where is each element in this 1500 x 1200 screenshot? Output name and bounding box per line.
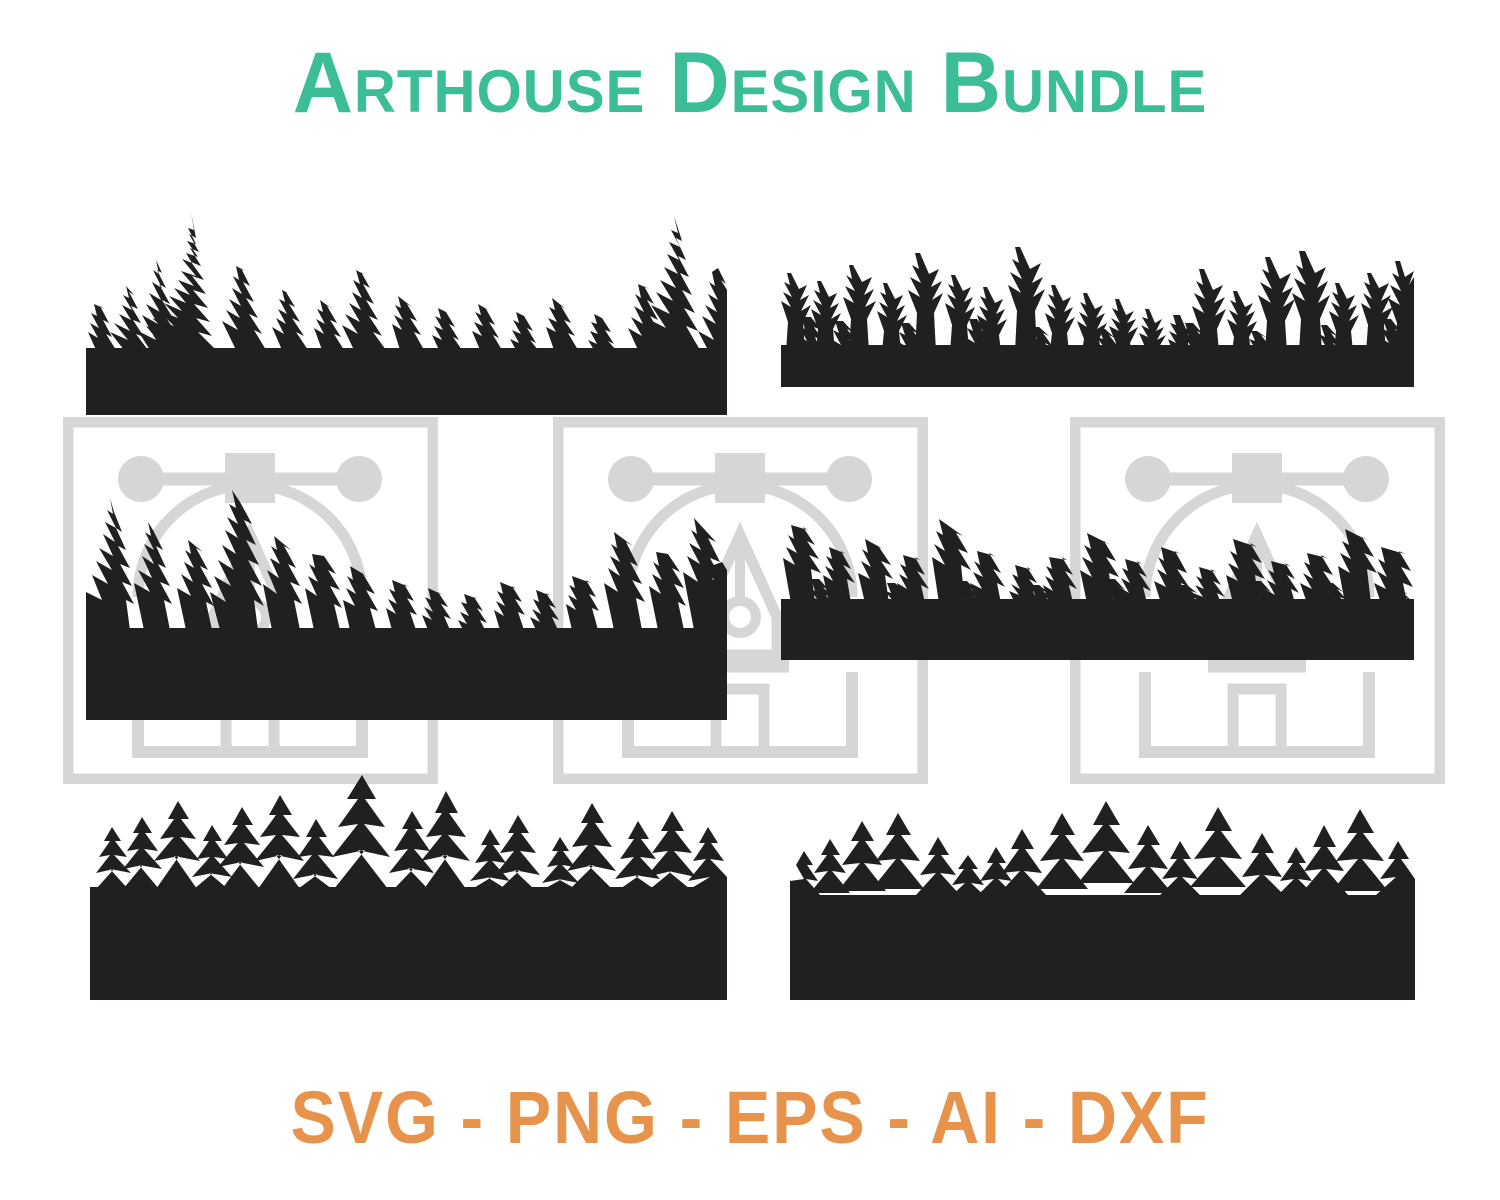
design-tile-3: [86, 470, 727, 720]
forest-silhouette-3: [86, 470, 727, 720]
forest-silhouette-5: [90, 765, 727, 1000]
design-bundle-preview: Arthouse Design Bundle: [0, 0, 1500, 1200]
forest-silhouette-1: [86, 200, 727, 415]
forest-silhouette-4: [781, 495, 1414, 660]
design-tile-6: [790, 785, 1415, 1000]
design-tile-2: [781, 227, 1414, 387]
design-tile-4: [781, 495, 1414, 660]
design-tile-5: [90, 765, 727, 1000]
forest-silhouette-2: [781, 227, 1414, 387]
design-tile-1: [86, 200, 727, 415]
file-formats-label: SVG - PNG - EPS - AI - DXF: [60, 1078, 1440, 1158]
forest-silhouette-6: [790, 785, 1415, 1000]
page-title: Arthouse Design Bundle: [23, 38, 1478, 128]
